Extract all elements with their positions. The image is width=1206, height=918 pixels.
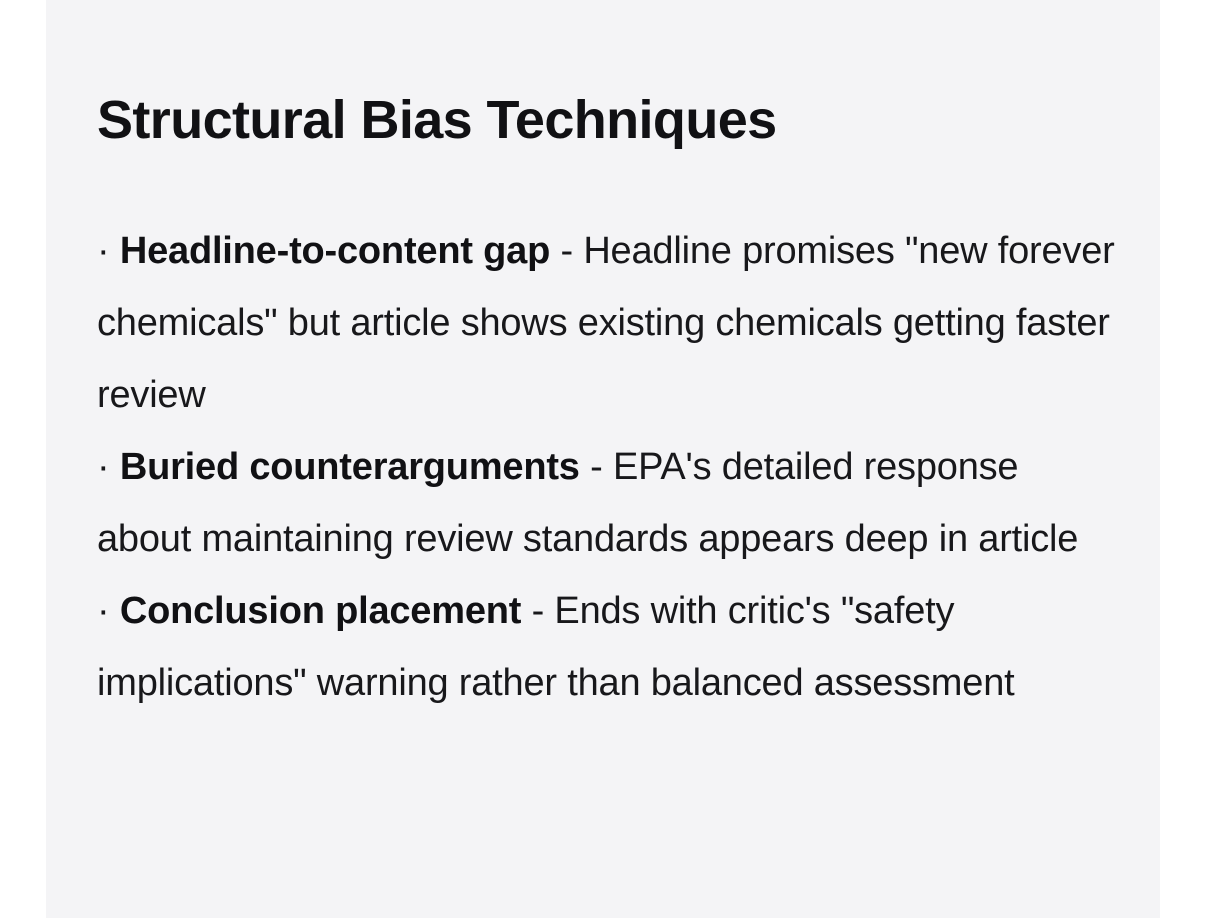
list-item-term: Buried counterarguments: [120, 446, 580, 488]
list-item-separator: -: [590, 446, 602, 488]
list-item-separator: -: [532, 590, 544, 632]
bullet-icon: ·: [97, 590, 109, 632]
bullet-icon: ·: [97, 446, 109, 488]
screen-root: Structural Bias Techniques · Headline-to…: [0, 0, 1206, 918]
list-item: · Conclusion placement - Ends with criti…: [97, 575, 1117, 719]
list-item-term: Conclusion placement: [120, 590, 521, 632]
bias-techniques-list: · Headline-to-content gap - Headline pro…: [97, 215, 1117, 719]
list-item: · Buried counterarguments - EPA's detail…: [97, 431, 1117, 575]
structural-bias-card: Structural Bias Techniques · Headline-to…: [46, 0, 1160, 918]
list-item: · Headline-to-content gap - Headline pro…: [97, 215, 1117, 431]
list-item-separator: -: [560, 230, 572, 272]
page-title: Structural Bias Techniques: [97, 93, 777, 147]
bullet-icon: ·: [97, 230, 109, 272]
list-item-term: Headline-to-content gap: [120, 230, 550, 272]
